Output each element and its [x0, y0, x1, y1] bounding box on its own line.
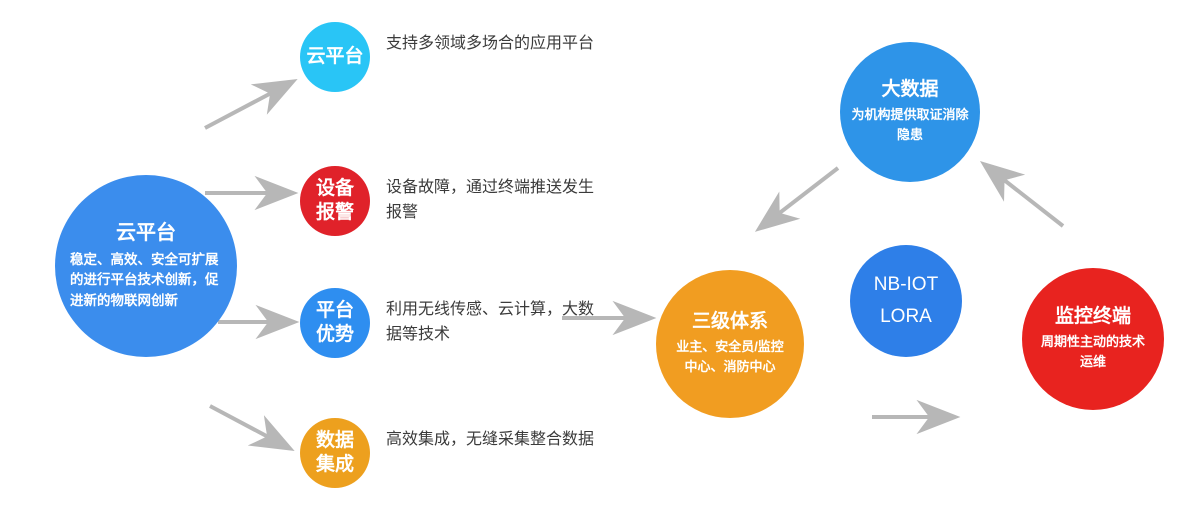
node-monitoring-terminal[interactable]: 监控终端 周期性主动的技术运维 [1022, 268, 1164, 410]
arrow-hub-to-cloud-platform [205, 82, 292, 128]
label-platform-advantage: 利用无线传感、云计算，大数据等技术 [386, 298, 601, 348]
node-device-alarm-title: 设备 报警 [316, 177, 354, 225]
node-nbiot-lora[interactable]: NB-IOT LORA [850, 245, 962, 357]
node-big-data[interactable]: 大数据 为机构提供取证消除隐患 [840, 42, 980, 182]
node-three-level-system-title: 三级体系 [692, 310, 768, 334]
node-cloud-platform[interactable]: 云平台 [300, 22, 370, 92]
node-data-integration[interactable]: 数据 集成 [300, 418, 370, 488]
node-big-data-description: 为机构提供取证消除隐患 [851, 105, 969, 145]
arrow-hub-to-data-integration [210, 406, 289, 448]
node-three-level-system[interactable]: 三级体系 业主、安全员/监控中心、消防中心 [656, 270, 804, 418]
label-device-alarm: 设备故障，通过终端推送发生报警 [386, 176, 601, 226]
node-big-data-title: 大数据 [881, 78, 938, 102]
arrow-bigdata-to-sanji [760, 168, 838, 228]
node-data-integration-title: 数据 集成 [316, 429, 354, 477]
hub-title: 云平台 [116, 221, 176, 246]
node-nbiot-lora-title: NB-IOT LORA [874, 269, 938, 334]
arrow-terminal-to-bigdata [985, 165, 1063, 226]
diagram-canvas: 云平台 稳定、高效、安全可扩展的进行平台技术创新，促进新的物联网创新 云平台 支… [0, 0, 1196, 532]
node-platform-advantage-title: 平台 优势 [316, 299, 354, 347]
node-platform-advantage[interactable]: 平台 优势 [300, 288, 370, 358]
node-cloud-platform-title: 云平台 [306, 45, 363, 69]
hub-description: 稳定、高效、安全可扩展的进行平台技术创新，促进新的物联网创新 [70, 250, 222, 311]
label-data-integration: 高效集成，无缝采集整合数据 [386, 428, 601, 453]
label-cloud-platform: 支持多领域多场合的应用平台 [386, 32, 601, 57]
node-monitoring-terminal-title: 监控终端 [1055, 305, 1131, 329]
node-three-level-system-description: 业主、安全员/监控中心、消防中心 [670, 337, 790, 377]
node-device-alarm[interactable]: 设备 报警 [300, 166, 370, 236]
node-cloud-platform-hub[interactable]: 云平台 稳定、高效、安全可扩展的进行平台技术创新，促进新的物联网创新 [55, 175, 237, 357]
node-monitoring-terminal-description: 周期性主动的技术运维 [1037, 332, 1149, 372]
